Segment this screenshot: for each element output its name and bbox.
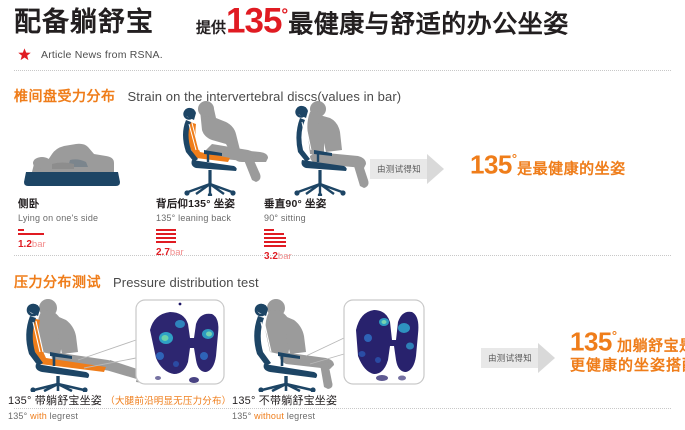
figure-lying-on-side: 侧卧 Lying on one's side 1.2bar	[18, 114, 128, 250]
provide-label: 提供	[196, 19, 226, 36]
figure-lying-caption-cn: 侧卧	[18, 196, 128, 211]
figure-leaning-back: 背后仰135° 坐姿 135° leaning back 2.7bar	[156, 100, 276, 258]
chair-90-illustration	[264, 100, 384, 196]
bar-segment	[156, 241, 176, 243]
star-icon	[18, 48, 31, 61]
figure-without-legrest: 135° 不带躺舒宝坐姿 135° without legrest	[232, 294, 432, 421]
section1-heading-cn: 椎间盘受力分布	[14, 88, 116, 104]
section1-arrow: 由测试得知	[370, 154, 444, 184]
page-title-left: 配备躺舒宝	[14, 6, 154, 38]
section2-divider	[14, 408, 671, 409]
figure-with-legrest-caption-note: （大腿前沿明显无压力分布）	[105, 396, 231, 407]
arrow-right-icon	[538, 343, 555, 373]
section2-heading-en: Pressure distribution test	[113, 275, 259, 290]
section1-conclusion-number: 135	[470, 149, 512, 179]
section1-conclusion-text: 是最健康的坐姿	[517, 160, 626, 177]
bar-segment	[264, 233, 284, 235]
caption-en-post: legrest	[284, 411, 315, 421]
section2-arrow: 由测试得知	[481, 343, 555, 373]
page-title-main: 提供135°最健康与舒适的办公坐姿	[196, 2, 569, 47]
figure-without-legrest-caption-cn: 135° 不带躺舒宝坐姿	[232, 392, 432, 408]
section2-heading: 压力分布测试Pressure distribution test	[14, 272, 259, 292]
bar-segment	[264, 245, 286, 247]
figure-upright-value: 3.2bar	[264, 251, 384, 262]
figure-upright-value-unit: bar	[278, 251, 292, 262]
section2-arrow-label: 由测试得知	[481, 348, 538, 368]
figure-lying-caption-en: Lying on one's side	[18, 213, 128, 223]
figure-with-legrest-caption-cn: 135° 带躺舒宝坐姿 （大腿前沿明显无压力分布）	[8, 392, 231, 408]
figure-lying-bars	[18, 229, 128, 235]
figure-leaning-value-number: 2.7	[156, 247, 170, 258]
figure-leaning-value: 2.7bar	[156, 247, 276, 258]
figure-with-legrest-caption-main: 135° 带躺舒宝坐姿	[8, 395, 102, 407]
lying-person-illustration	[18, 114, 128, 196]
section2-conclusion: 135°加躺舒宝是 更健康的坐姿搭配	[570, 330, 685, 376]
caption-en-post: legrest	[47, 411, 78, 421]
section2-conclusion-line1: 135°加躺舒宝是	[570, 330, 685, 356]
section2-conclusion-text1: 加躺舒宝是	[617, 337, 685, 354]
bar-segment	[156, 237, 176, 239]
infographic-page: 配备躺舒宝 提供135°最健康与舒适的办公坐姿 Article News fro…	[0, 0, 685, 430]
figure-lying-value: 1.2bar	[18, 239, 128, 250]
subtitle-line: Article News from RSNA.	[18, 48, 163, 61]
bar-segment	[264, 237, 286, 239]
figure-lying-value-number: 1.2	[18, 239, 32, 250]
section1-conclusion-degree: °	[512, 151, 517, 166]
header-divider	[14, 70, 671, 71]
section2-conclusion-line2: 更健康的坐姿搭配	[570, 356, 685, 376]
figure-leaning-value-unit: bar	[170, 247, 184, 258]
section-pressure: 压力分布测试Pressure distribution test	[0, 268, 685, 430]
section2-heading-cn: 压力分布测试	[14, 274, 101, 290]
bar-segment	[156, 229, 176, 231]
section2-conclusion-degree: °	[612, 328, 617, 343]
figure-without-legrest-caption-en: 135° without legrest	[232, 411, 432, 421]
figure-leaning-bars	[156, 229, 276, 243]
section1-conclusion: 135°是最健康的坐姿	[470, 152, 626, 180]
figure-leaning-caption-en: 135° leaning back	[156, 213, 276, 223]
headline-rest: 最健康与舒适的办公坐姿	[288, 10, 569, 38]
section2-conclusion-number: 135	[570, 326, 612, 356]
headline-angle-number: 135	[226, 1, 281, 40]
figure-without-legrest-caption-main: 135° 不带躺舒宝坐姿	[232, 395, 337, 407]
chair-with-legrest-illustration	[8, 294, 228, 392]
figure-upright-bars	[264, 229, 384, 247]
figure-upright-sitting: 垂直90° 坐姿 90° sitting 3.2bar	[264, 100, 384, 262]
bar-segment	[264, 241, 286, 243]
caption-en-emphasis: with	[30, 411, 47, 421]
section1-divider	[14, 255, 671, 256]
bar-segment	[156, 233, 176, 235]
bar-segment	[18, 229, 24, 231]
subtitle-text: Article News from RSNA.	[41, 49, 163, 61]
page-header: 配备躺舒宝 提供135°最健康与舒适的办公坐姿 Article News fro…	[0, 0, 685, 72]
figure-upright-value-number: 3.2	[264, 251, 278, 262]
figure-lying-value-unit: bar	[32, 239, 46, 250]
arrow-right-icon	[427, 154, 444, 184]
figure-leaning-caption-cn: 背后仰135° 坐姿	[156, 196, 276, 211]
figure-upright-caption-en: 90° sitting	[264, 213, 384, 223]
headline-degree-symbol: °	[281, 5, 288, 24]
bar-segment	[264, 229, 274, 231]
caption-en-pre: 135°	[232, 411, 254, 421]
chair-135-illustration	[156, 100, 276, 196]
caption-en-emphasis: without	[254, 411, 284, 421]
figure-with-legrest: 135° 带躺舒宝坐姿 （大腿前沿明显无压力分布） 135° with legr…	[8, 294, 231, 421]
caption-en-pre: 135°	[8, 411, 30, 421]
figure-upright-caption-cn: 垂直90° 坐姿	[264, 196, 384, 211]
bar-segment	[18, 233, 44, 235]
chair-without-legrest-illustration	[232, 294, 432, 392]
section-strain: 椎间盘受力分布Strain on the intervertebral disc…	[0, 78, 685, 258]
section1-arrow-label: 由测试得知	[370, 159, 427, 179]
figure-with-legrest-caption-en: 135° with legrest	[8, 411, 231, 421]
